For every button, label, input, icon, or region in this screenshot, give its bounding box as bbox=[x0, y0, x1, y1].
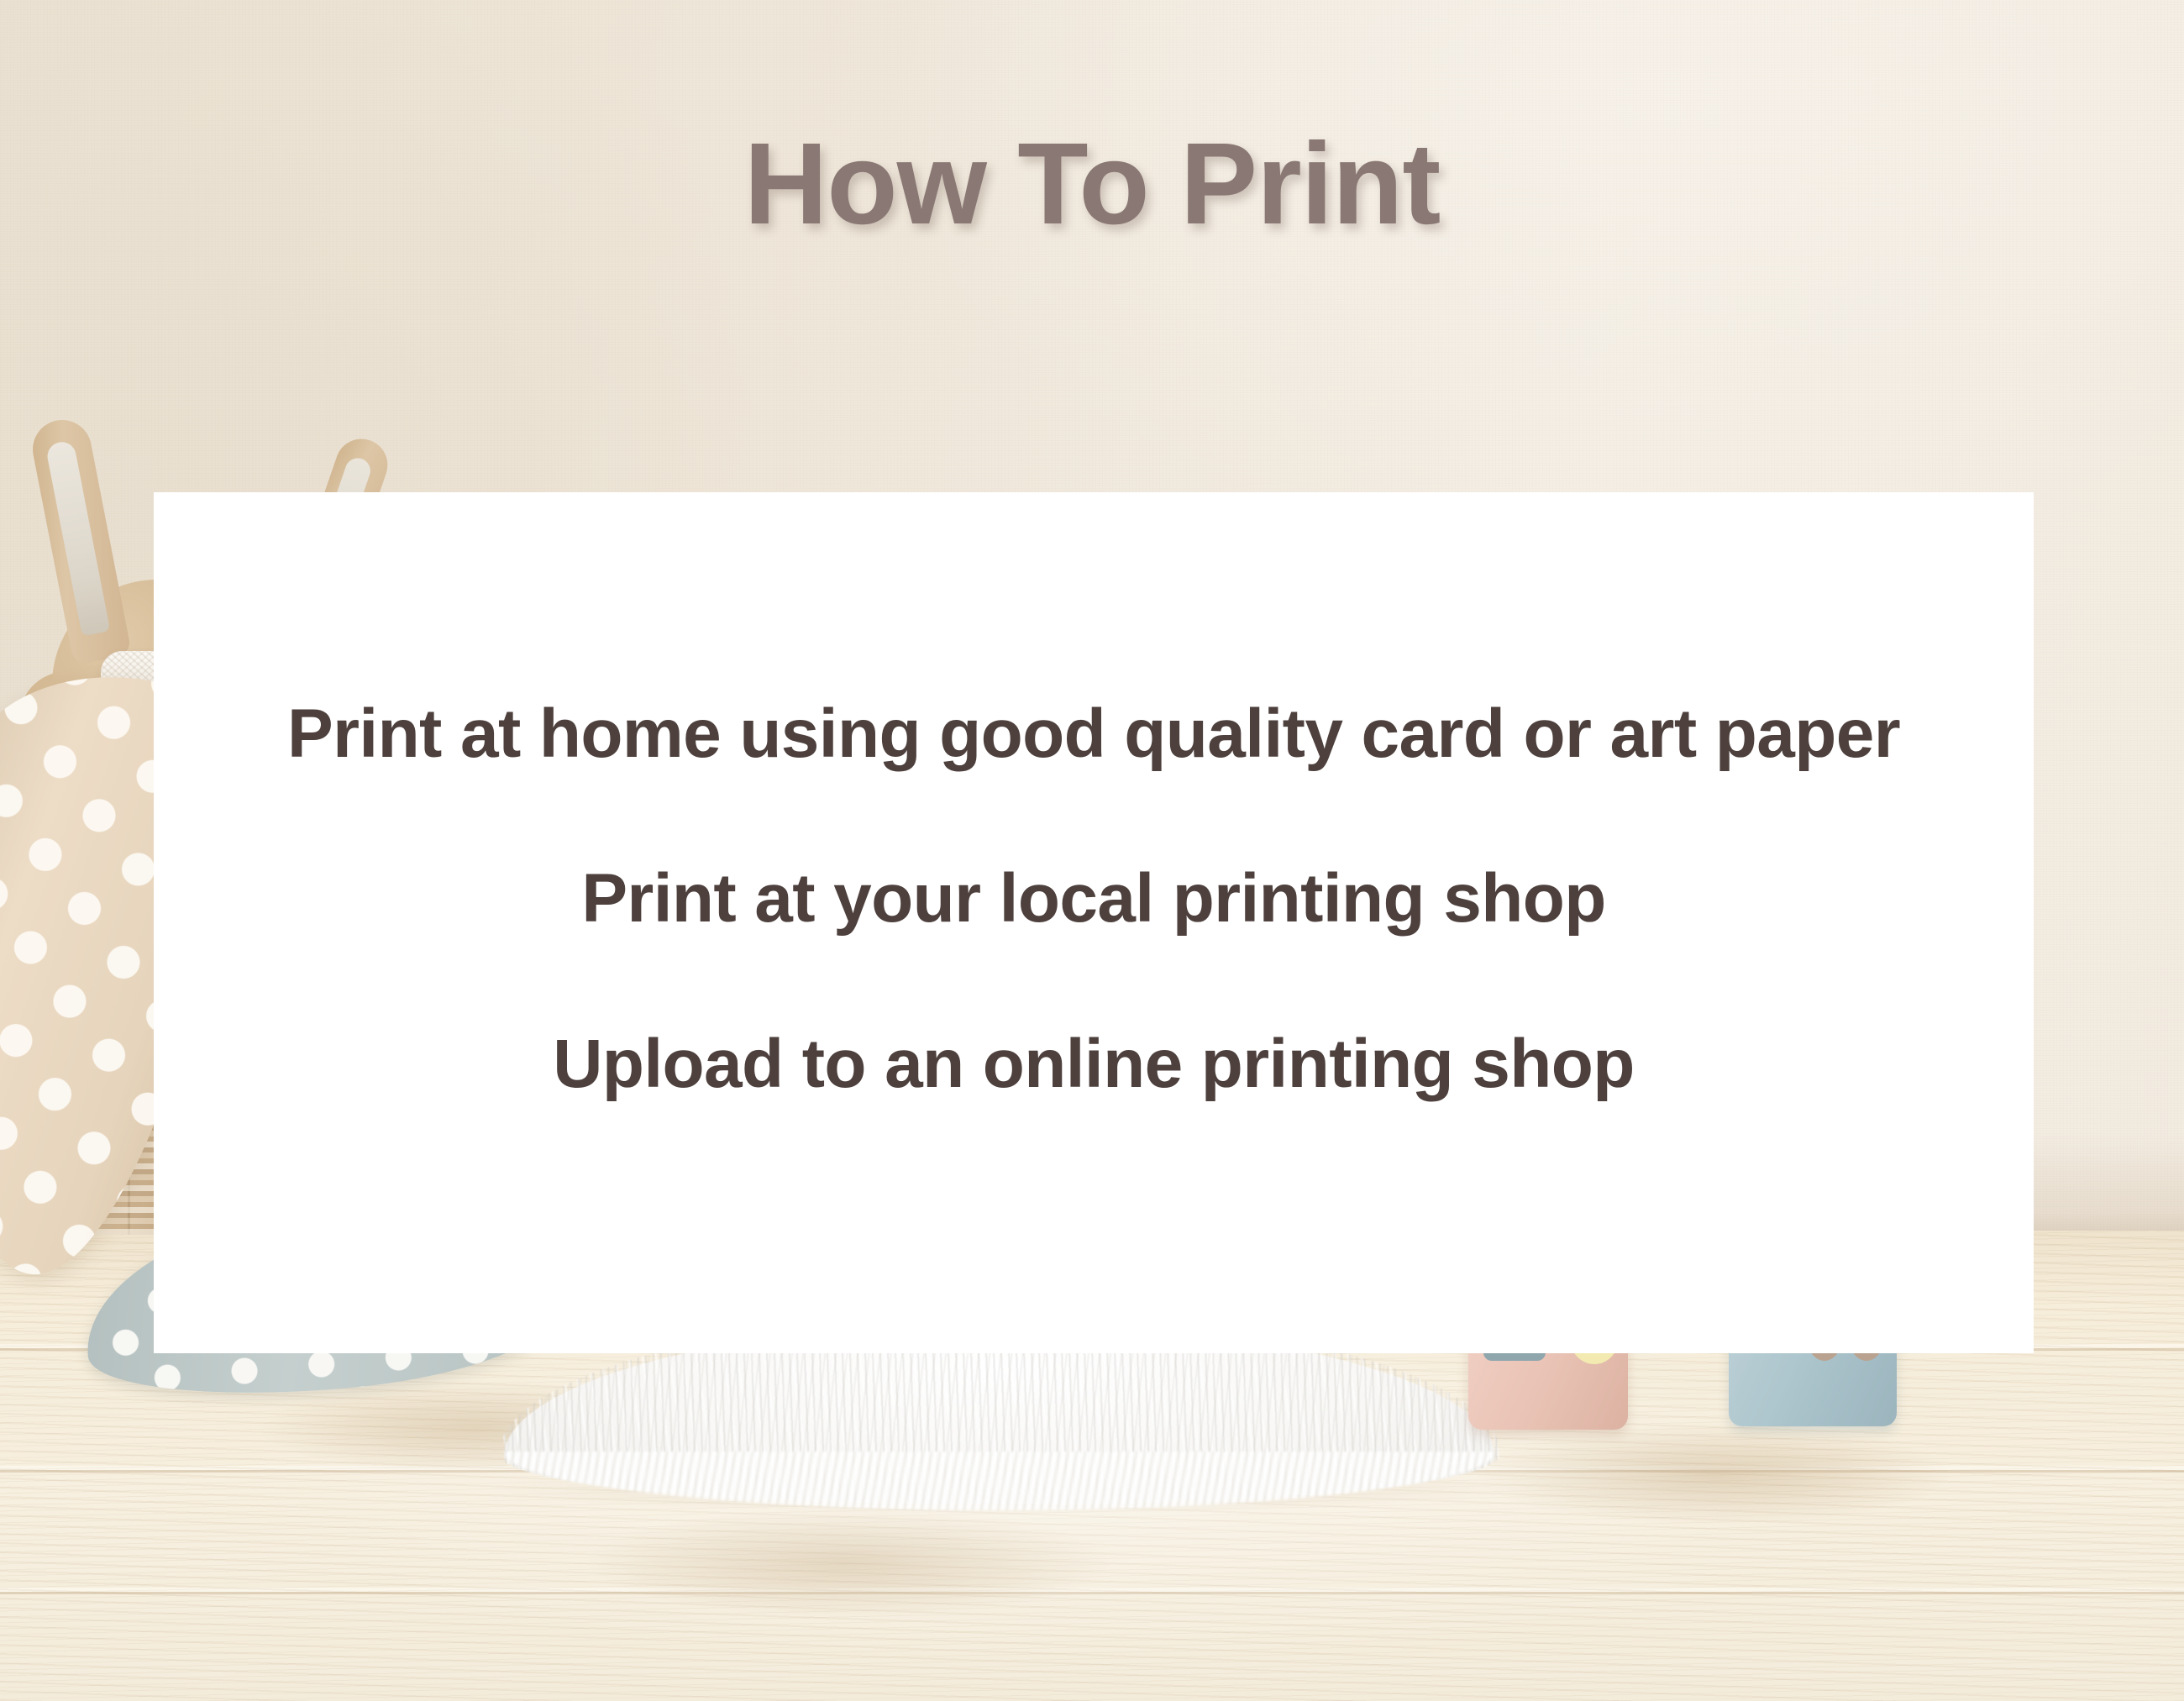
print-option-3: Upload to an online printing shop bbox=[553, 1028, 1635, 1100]
card-line-list: Print at home using good quality card or… bbox=[154, 698, 2034, 1147]
info-card: Print at home using good quality card or… bbox=[154, 492, 2034, 1353]
slide-canvas: How To Print Print at home using good qu… bbox=[0, 0, 2184, 1701]
page-title: How To Print bbox=[0, 126, 2184, 242]
print-option-2: Print at your local printing shop bbox=[581, 863, 1605, 935]
print-option-1: Print at home using good quality card or… bbox=[287, 698, 1900, 770]
